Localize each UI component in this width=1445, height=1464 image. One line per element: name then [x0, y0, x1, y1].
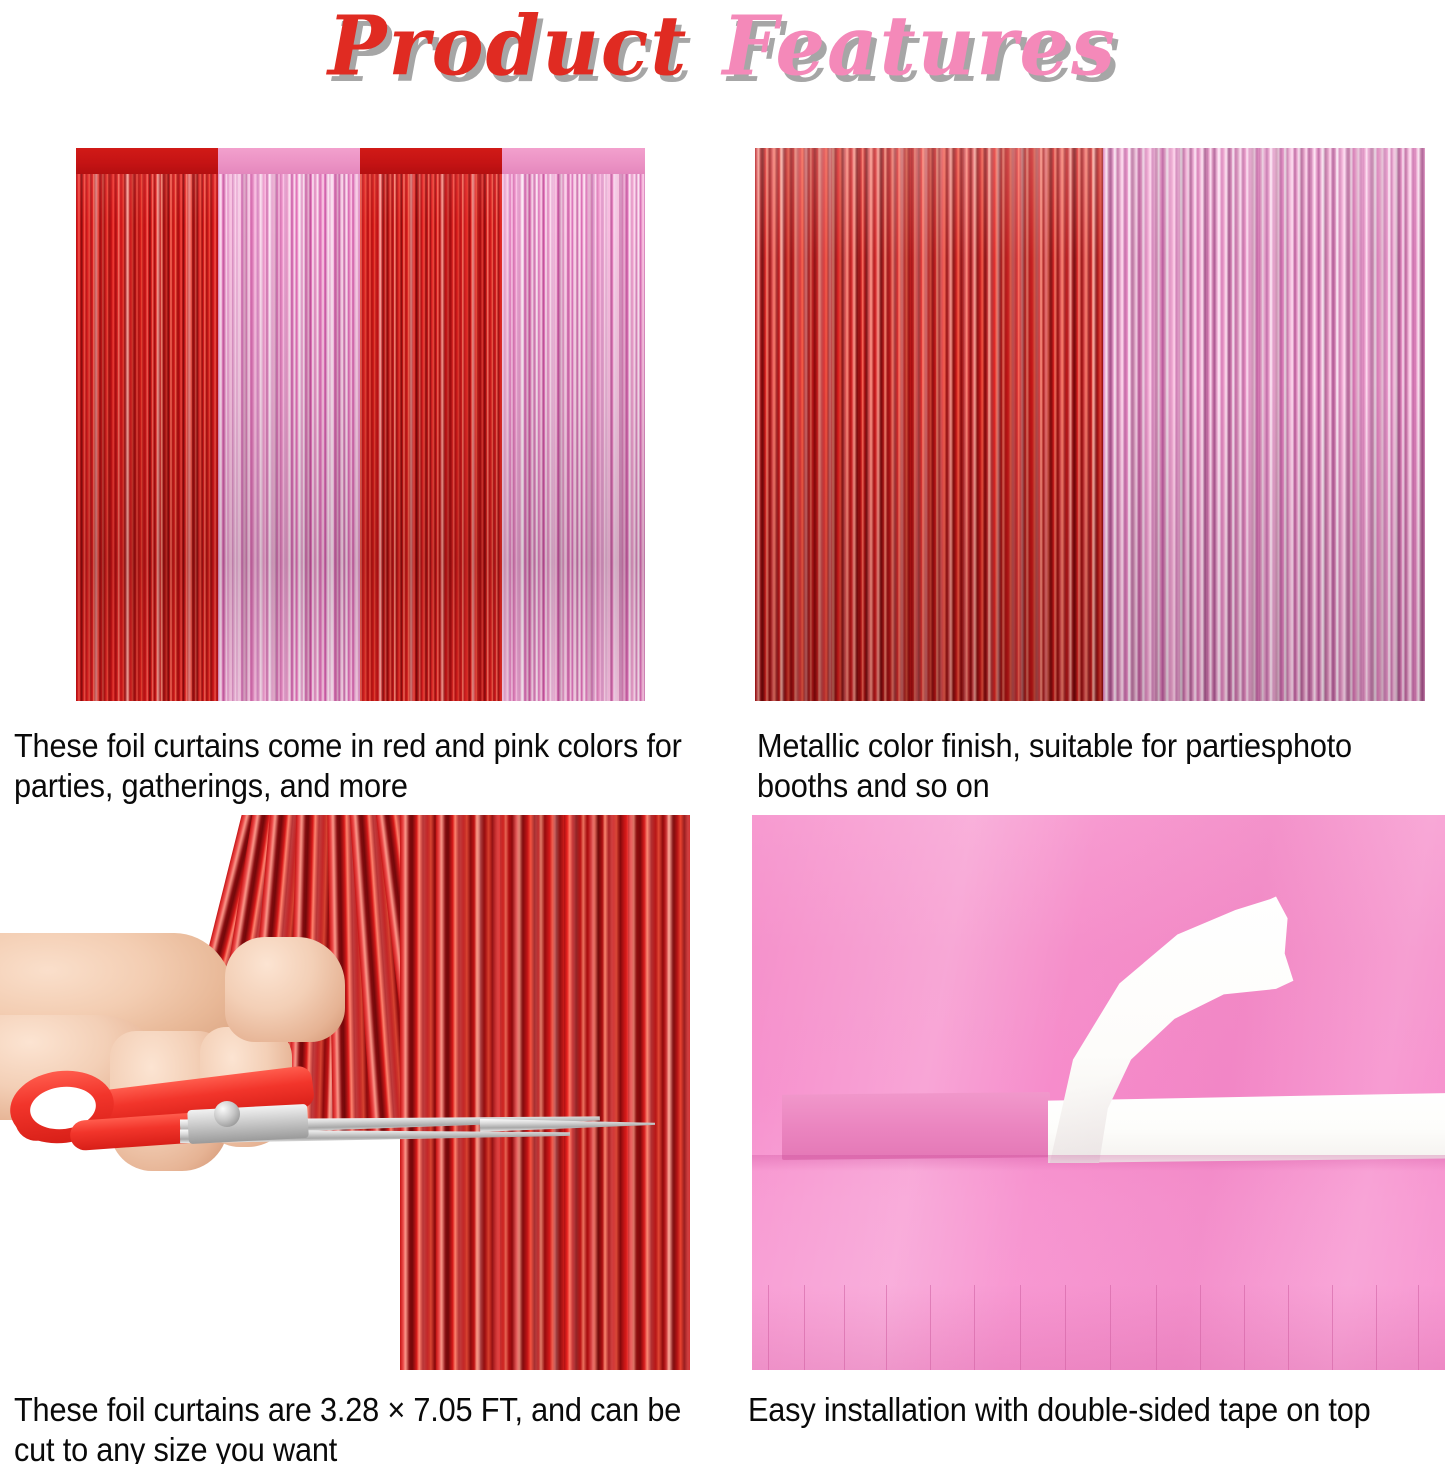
curtain-strip-red-1 — [76, 148, 218, 701]
curtain-header-band — [218, 148, 360, 174]
curtain-strip-pink-1 — [218, 148, 360, 701]
title-word-features: Features — [722, 0, 1117, 95]
thumb — [225, 937, 345, 1042]
red-foil-curtain-upper — [436, 815, 690, 1370]
curtain-header-band — [360, 148, 502, 174]
scissors-screw-plate — [187, 1104, 309, 1144]
curtain-strip-pink-2 — [502, 148, 645, 701]
closeup-red-half — [755, 148, 1103, 701]
foil-fringe-texture — [1103, 148, 1425, 701]
foil-fringe-texture — [218, 148, 360, 701]
curtain-colors-photo — [76, 148, 645, 701]
title-text: ProductFeatures — [328, 6, 1117, 89]
foil-fringe-texture — [360, 148, 502, 701]
caption-panel-4: Easy installation with double-sided tape… — [748, 1390, 1418, 1430]
caption-panel-2: Metallic color finish, suitable for part… — [757, 726, 1408, 805]
closeup-pink-half — [1103, 148, 1425, 701]
double-sided-tape-photo — [752, 815, 1445, 1370]
cut-to-size-photo — [0, 815, 690, 1370]
product-features-infographic: ProductFeatures — [0, 0, 1445, 1464]
caption-panel-3: These foil curtains are 3.28 × 7.05 FT, … — [14, 1390, 684, 1464]
tape-seam-shadow — [752, 1155, 1445, 1171]
curtain-strip-red-2 — [360, 148, 502, 701]
title-word-product: Product — [328, 0, 689, 95]
foil-fringe-texture — [76, 148, 218, 701]
caption-panel-1: These foil curtains come in red and pink… — [14, 726, 739, 805]
curtain-header-band — [76, 148, 218, 174]
tape-liner-attached — [782, 1092, 1050, 1160]
page-title: ProductFeatures — [0, 8, 1445, 86]
fringe-shadow — [752, 1285, 1445, 1370]
scissors-pivot-screw — [214, 1101, 240, 1127]
foil-fringe-texture — [502, 148, 645, 701]
fringe-cut-lines — [752, 1285, 1445, 1370]
metallic-finish-photo — [755, 148, 1425, 701]
foil-fringe-texture — [755, 148, 1103, 701]
curtain-header-band — [502, 148, 645, 174]
